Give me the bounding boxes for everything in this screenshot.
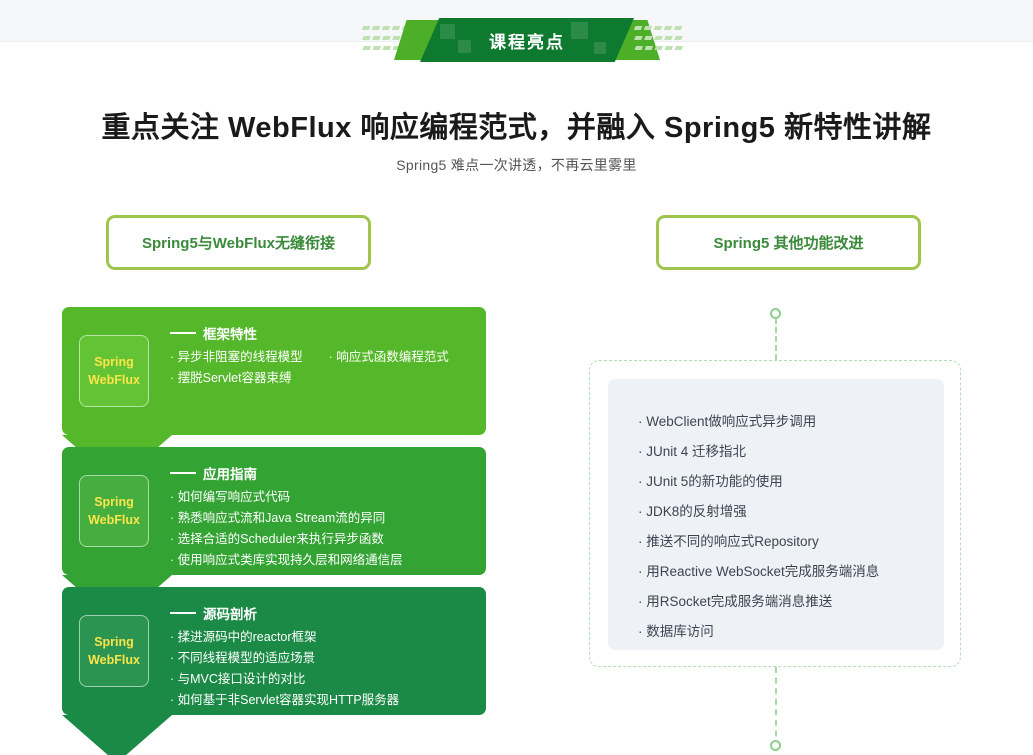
- spring-webflux-badge: Spring WebFlux: [79, 615, 149, 687]
- badge-line-2: WebFlux: [88, 511, 140, 529]
- page-subtitle: Spring5 难点一次讲透，不再云里雾里: [0, 155, 1033, 175]
- ribbon-square-1-icon: [440, 24, 455, 39]
- badge-line-1: Spring: [94, 353, 134, 371]
- ribbon-square-4-icon: [594, 42, 606, 54]
- flow-card-heading-text: 应用指南: [203, 463, 257, 483]
- flow-card-bullet: · 揉进源码中的reactor框架: [170, 627, 478, 648]
- flow-card-heading: 应用指南: [170, 463, 478, 483]
- flow-card-body: 应用指南 · 如何编写响应式代码 · 熟悉响应式流和Java Stream流的异…: [170, 463, 478, 571]
- flow-card-heading-text: 框架特性: [203, 323, 257, 343]
- flow-card-bullet: · 选择合适的Scheduler来执行异步函数: [170, 529, 478, 550]
- connector-line-bottom: [775, 667, 777, 747]
- flow-arrow-down-icon: [62, 715, 172, 755]
- feature-list-item: · 数据库访问: [638, 617, 944, 647]
- flow-card-bullet: · 与MVC接口设计的对比: [170, 669, 478, 690]
- connector-line-top: [775, 318, 777, 360]
- badge-line-2: WebFlux: [88, 651, 140, 669]
- flow-card-bullet: · 使用响应式类库实现持久层和网络通信层: [170, 550, 478, 571]
- ribbon-square-2-icon: [458, 40, 471, 53]
- flow-card-body: 框架特性 · 异步非阻塞的线程模型 · 响应式函数编程范式 · 摆脱Servle…: [170, 323, 478, 389]
- dash-icon: [170, 332, 196, 334]
- feature-list-item: · 用Reactive WebSocket完成服务端消息: [638, 557, 944, 587]
- flow-card-bullets: · 如何编写响应式代码 · 熟悉响应式流和Java Stream流的异同 · 选…: [170, 487, 478, 571]
- flow-card-bullet: · 熟悉响应式流和Java Stream流的异同: [170, 508, 478, 529]
- flow-card: Spring WebFlux 源码剖析 · 揉进源码中的reactor框架 · …: [62, 587, 486, 715]
- section-header-right: Spring5 其他功能改进: [656, 215, 921, 270]
- right-feature-inner-box: · WebClient做响应式异步调用 · JUnit 4 迁移指北 · JUn…: [608, 379, 944, 650]
- flow-card-list: Spring WebFlux 框架特性 · 异步非阻塞的线程模型 · 响应式函数…: [62, 307, 486, 727]
- flow-card-bullet: · 异步非阻塞的线程模型: [170, 347, 303, 368]
- right-feature-panel: · WebClient做响应式异步调用 · JUnit 4 迁移指北 · JUn…: [589, 360, 961, 667]
- ribbon-title: 课程亮点: [489, 28, 565, 53]
- spring-webflux-badge: Spring WebFlux: [79, 335, 149, 407]
- ribbon-dots-right-icon: [630, 24, 692, 54]
- feature-list-item: · JUnit 5的新功能的使用: [638, 467, 944, 497]
- ribbon-core: 课程亮点: [420, 18, 634, 62]
- section-ribbon-banner: 课程亮点: [362, 18, 692, 62]
- ribbon-square-3-icon: [571, 22, 588, 39]
- flow-card-heading: 源码剖析: [170, 603, 478, 623]
- flow-card-bullet: · 不同线程模型的适应场景: [170, 648, 478, 669]
- flow-card-bullet: · 如何基于非Servlet容器实现HTTP服务器: [170, 690, 478, 711]
- dash-icon: [170, 612, 196, 614]
- flow-card-bullets: · 异步非阻塞的线程模型 · 响应式函数编程范式 · 摆脱Servlet容器束缚: [170, 347, 478, 389]
- flow-card-heading: 框架特性: [170, 323, 478, 343]
- badge-line-1: Spring: [94, 493, 134, 511]
- feature-list-item: · JDK8的反射增强: [638, 497, 944, 527]
- feature-list-item: · 推送不同的响应式Repository: [638, 527, 944, 557]
- course-highlights-page: 课程亮点: [0, 0, 1033, 755]
- page-title: 重点关注 WebFlux 响应编程范式，并融入 Spring5 新特性讲解: [0, 104, 1033, 146]
- flow-card-bullets: · 揉进源码中的reactor框架 · 不同线程模型的适应场景 · 与MVC接口…: [170, 627, 478, 711]
- feature-list-item: · 用RSocket完成服务端消息推送: [638, 587, 944, 617]
- flow-card: Spring WebFlux 框架特性 · 异步非阻塞的线程模型 · 响应式函数…: [62, 307, 486, 435]
- badge-line-1: Spring: [94, 633, 134, 651]
- feature-list-item: · WebClient做响应式异步调用: [638, 407, 944, 437]
- flow-card-heading-text: 源码剖析: [203, 603, 257, 623]
- flow-card: Spring WebFlux 应用指南 · 如何编写响应式代码 · 熟悉响应式流…: [62, 447, 486, 575]
- flow-card-bullet: · 如何编写响应式代码: [170, 487, 478, 508]
- feature-list-item: · JUnit 4 迁移指北: [638, 437, 944, 467]
- dash-icon: [170, 472, 196, 474]
- connector-dot-bottom-icon: [770, 740, 781, 751]
- badge-line-2: WebFlux: [88, 371, 140, 389]
- flow-card-body: 源码剖析 · 揉进源码中的reactor框架 · 不同线程模型的适应场景 · 与…: [170, 603, 478, 711]
- section-header-left: Spring5与WebFlux无缝衔接: [106, 215, 371, 270]
- spring-webflux-badge: Spring WebFlux: [79, 475, 149, 547]
- flow-card-bullet: · 摆脱Servlet容器束缚: [170, 368, 292, 389]
- flow-card-bullet: · 响应式函数编程范式: [329, 347, 449, 368]
